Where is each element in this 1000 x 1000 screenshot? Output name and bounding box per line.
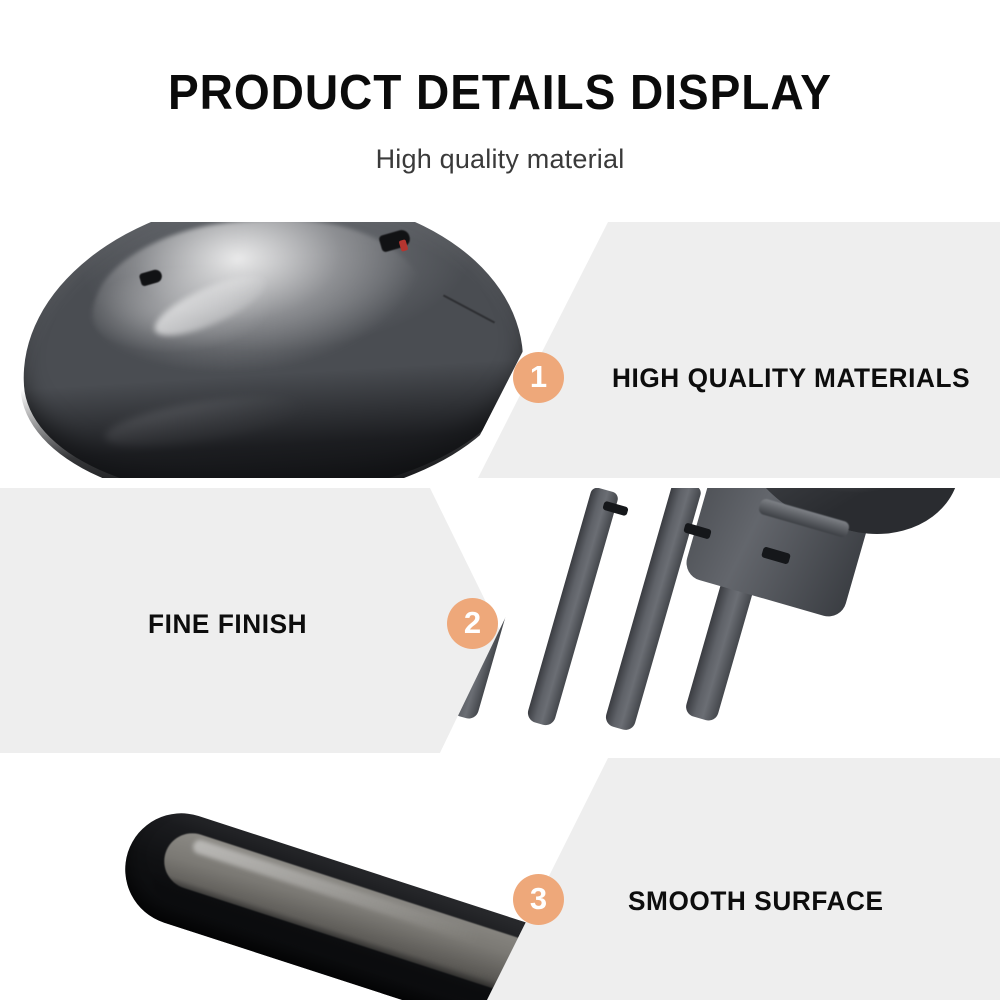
feature-badge-3: 3 — [513, 874, 564, 925]
page-subtitle: High quality material — [0, 142, 1000, 176]
feature-label-1: HIGH QUALITY MATERIALS — [612, 363, 970, 393]
feature-badge-1-number: 1 — [530, 361, 547, 392]
fork-photo — [440, 488, 1000, 753]
feature-row-2: 2 FINE FINISH — [0, 488, 1000, 753]
feature-badge-1: 1 — [513, 352, 564, 403]
page-title: PRODUCT DETAILS DISPLAY — [30, 64, 970, 122]
feature-label-3: SMOOTH SURFACE — [628, 886, 884, 916]
feature-image-2 — [440, 488, 1000, 753]
feature-badge-3-number: 3 — [530, 883, 547, 914]
feature-label-2: FINE FINISH — [148, 609, 307, 639]
feature-badge-2: 2 — [447, 598, 498, 649]
page-header: PRODUCT DETAILS DISPLAY High quality mat… — [0, 0, 1000, 222]
feature-row-1: 1 HIGH QUALITY MATERIALS — [0, 222, 1000, 478]
product-details-page: PRODUCT DETAILS DISPLAY High quality mat… — [0, 0, 1000, 1000]
fork-tine-2 — [526, 488, 620, 727]
feature-badge-2-number: 2 — [464, 607, 481, 638]
feature-row-3: 3 SMOOTH SURFACE — [0, 758, 1000, 1000]
